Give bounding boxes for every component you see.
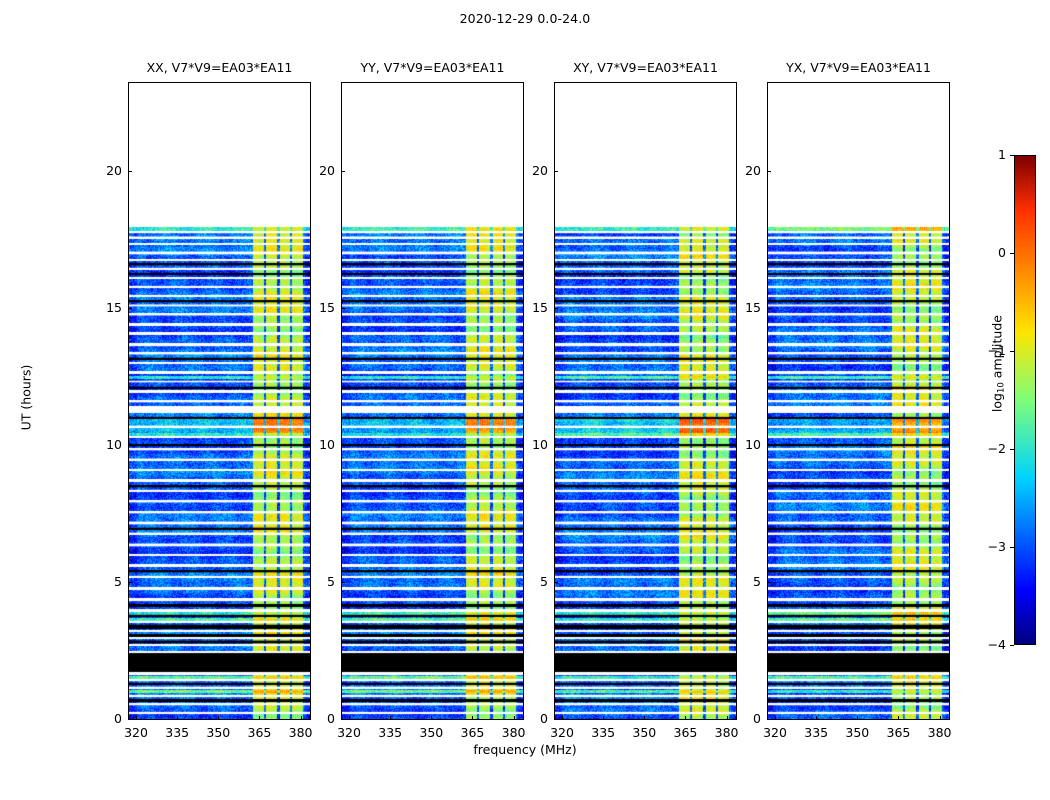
x-tick-label: 335 [583, 725, 623, 740]
y-tick-label: 10 [731, 437, 761, 452]
x-tick-label: 335 [796, 725, 836, 740]
y-tick [341, 582, 345, 583]
y-tick [554, 171, 558, 172]
x-tick-label: 365 [878, 725, 918, 740]
y-tick-label: 10 [518, 437, 548, 452]
y-tick [554, 308, 558, 309]
x-tick [644, 716, 645, 720]
y-tick-label: 15 [518, 300, 548, 315]
colorbar-label: log10 amplitude [989, 284, 1006, 444]
x-tick [603, 716, 604, 720]
y-tick-label: 20 [305, 163, 335, 178]
y-tick [767, 308, 771, 309]
colorbar-tick-label: 1 [980, 147, 1006, 162]
colorbar-tick [1010, 645, 1014, 646]
spectrogram-panel-yy[interactable] [341, 82, 524, 720]
x-tick [775, 716, 776, 720]
y-tick [128, 171, 132, 172]
y-tick [767, 445, 771, 446]
y-tick-label: 5 [305, 574, 335, 589]
y-tick-label: 0 [305, 711, 335, 726]
y-tick-label: 10 [92, 437, 122, 452]
y-tick-label: 20 [518, 163, 548, 178]
x-tick-label: 365 [665, 725, 705, 740]
x-tick-label: 380 [707, 725, 747, 740]
x-tick [514, 716, 515, 720]
y-tick [341, 445, 345, 446]
y-tick-label: 15 [731, 300, 761, 315]
x-tick [472, 716, 473, 720]
y-tick-label: 5 [731, 574, 761, 589]
y-tick [128, 719, 132, 720]
y-tick [554, 582, 558, 583]
colorbar-tick [1010, 449, 1014, 450]
panel-title-xy: XY, V7*V9=EA03*EA11 [554, 60, 737, 75]
y-tick-label: 0 [731, 711, 761, 726]
x-tick-label: 320 [329, 725, 369, 740]
spectrogram-panel-xy[interactable] [554, 82, 737, 720]
x-tick [857, 716, 858, 720]
x-tick-label: 350 [837, 725, 877, 740]
panel-title-yx: YX, V7*V9=EA03*EA11 [767, 60, 950, 75]
colorbar-tick-label: −3 [980, 539, 1006, 554]
x-tick-label: 320 [755, 725, 795, 740]
y-tick [128, 308, 132, 309]
y-axis-label: UT (hours) [19, 338, 34, 458]
x-tick [177, 716, 178, 720]
x-tick [259, 716, 260, 720]
x-tick-label: 380 [494, 725, 534, 740]
colorbar-tick [1010, 155, 1014, 156]
y-tick [767, 171, 771, 172]
x-axis-label: frequency (MHz) [0, 742, 1050, 757]
panel-title-yy: YY, V7*V9=EA03*EA11 [341, 60, 524, 75]
x-tick-label: 320 [542, 725, 582, 740]
x-tick-label: 350 [411, 725, 451, 740]
colorbar-tick [1010, 253, 1014, 254]
x-tick-label: 365 [239, 725, 279, 740]
y-tick-label: 0 [92, 711, 122, 726]
x-tick [136, 716, 137, 720]
y-tick [341, 719, 345, 720]
x-tick [301, 716, 302, 720]
y-tick [554, 445, 558, 446]
y-tick [128, 445, 132, 446]
colorbar-label-suffix: amplitude [989, 315, 1004, 382]
y-tick [128, 582, 132, 583]
y-tick-label: 15 [92, 300, 122, 315]
panel-title-xx: XX, V7*V9=EA03*EA11 [128, 60, 311, 75]
x-tick [898, 716, 899, 720]
x-tick-label: 335 [370, 725, 410, 740]
x-tick-label: 365 [452, 725, 492, 740]
y-tick-label: 10 [305, 437, 335, 452]
colorbar-tick [1010, 351, 1014, 352]
colorbar[interactable] [1014, 155, 1036, 645]
x-tick [816, 716, 817, 720]
colorbar-tick-label: 0 [980, 245, 1006, 260]
x-tick [218, 716, 219, 720]
x-tick-label: 380 [920, 725, 960, 740]
colorbar-tick-label: −4 [980, 637, 1006, 652]
colorbar-tick [1010, 547, 1014, 548]
x-tick [685, 716, 686, 720]
colorbar-label-prefix: log [989, 393, 1004, 412]
y-tick-label: 20 [92, 163, 122, 178]
x-tick-label: 350 [624, 725, 664, 740]
x-tick-label: 350 [198, 725, 238, 740]
x-tick [390, 716, 391, 720]
y-tick [341, 171, 345, 172]
x-tick [431, 716, 432, 720]
x-tick [727, 716, 728, 720]
colorbar-label-subscript: 10 [997, 382, 1007, 393]
y-tick-label: 5 [92, 574, 122, 589]
y-tick-label: 15 [305, 300, 335, 315]
figure-canvas: 2020-12-29 0.0-24.0 XX, V7*V9=EA03*EA11 … [0, 0, 1050, 800]
x-tick [562, 716, 563, 720]
y-tick [554, 719, 558, 720]
y-tick [767, 582, 771, 583]
y-tick-label: 0 [518, 711, 548, 726]
figure-suptitle: 2020-12-29 0.0-24.0 [0, 11, 1050, 26]
x-tick [940, 716, 941, 720]
spectrogram-panel-yx[interactable] [767, 82, 950, 720]
y-tick [341, 308, 345, 309]
x-tick-label: 320 [116, 725, 156, 740]
y-tick [767, 719, 771, 720]
x-tick-label: 335 [157, 725, 197, 740]
spectrogram-panel-xx[interactable] [128, 82, 311, 720]
x-tick-label: 380 [281, 725, 321, 740]
y-tick-label: 20 [731, 163, 761, 178]
y-tick-label: 5 [518, 574, 548, 589]
x-tick [349, 716, 350, 720]
